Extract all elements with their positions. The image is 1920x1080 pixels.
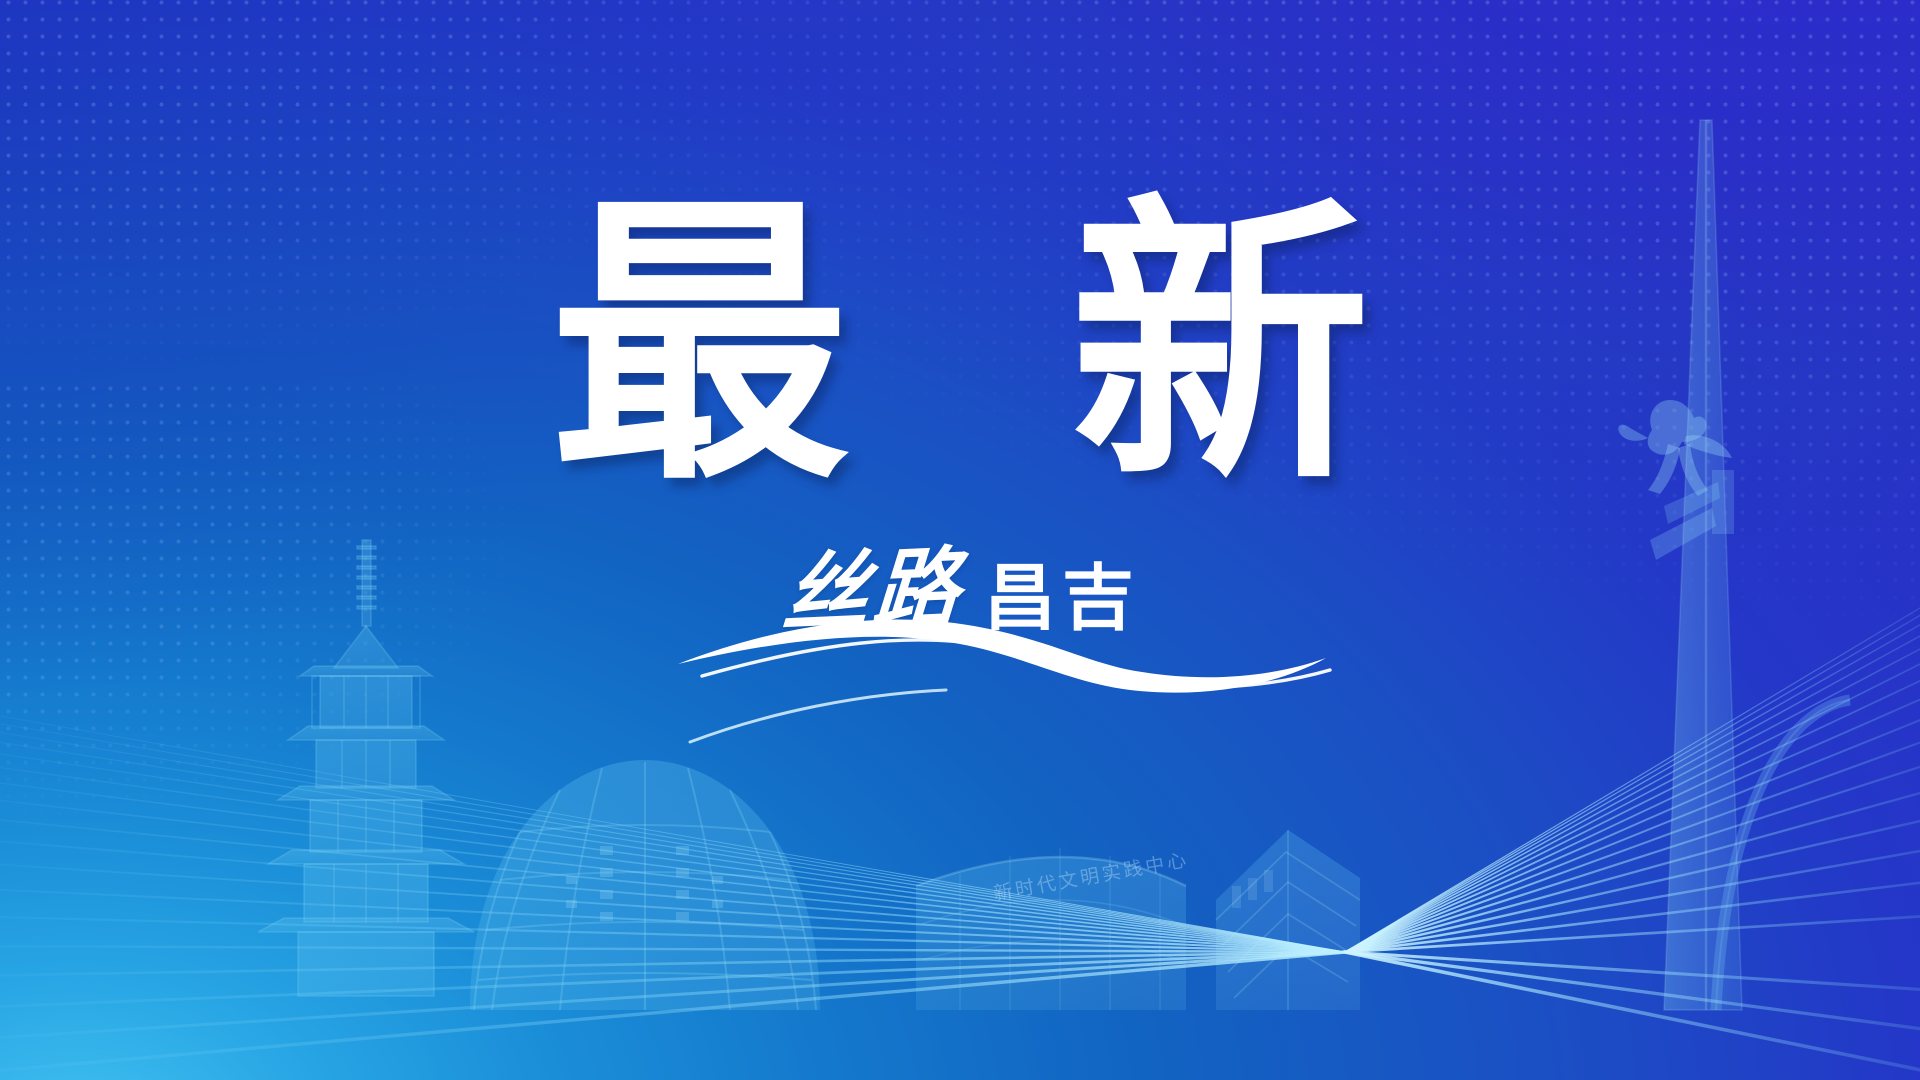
building-facade-label: 新时代文明实践中心 bbox=[991, 845, 1191, 906]
ribbon-underline-icon bbox=[582, 586, 1342, 696]
domed-hall-silhouette bbox=[470, 760, 820, 1010]
pagoda-silhouette bbox=[258, 540, 474, 996]
stepped-office-tower-silhouette bbox=[1216, 830, 1360, 1010]
civilization-practice-center-silhouette bbox=[916, 848, 1186, 1010]
accent-streak bbox=[690, 690, 946, 742]
page-title: 最 新 bbox=[0, 196, 1920, 496]
brand-logo: 丝路 昌吉 bbox=[700, 520, 1220, 690]
poster-canvas: 最 新 丝路 昌吉 新时代文明实践中心 bbox=[0, 0, 1920, 1080]
